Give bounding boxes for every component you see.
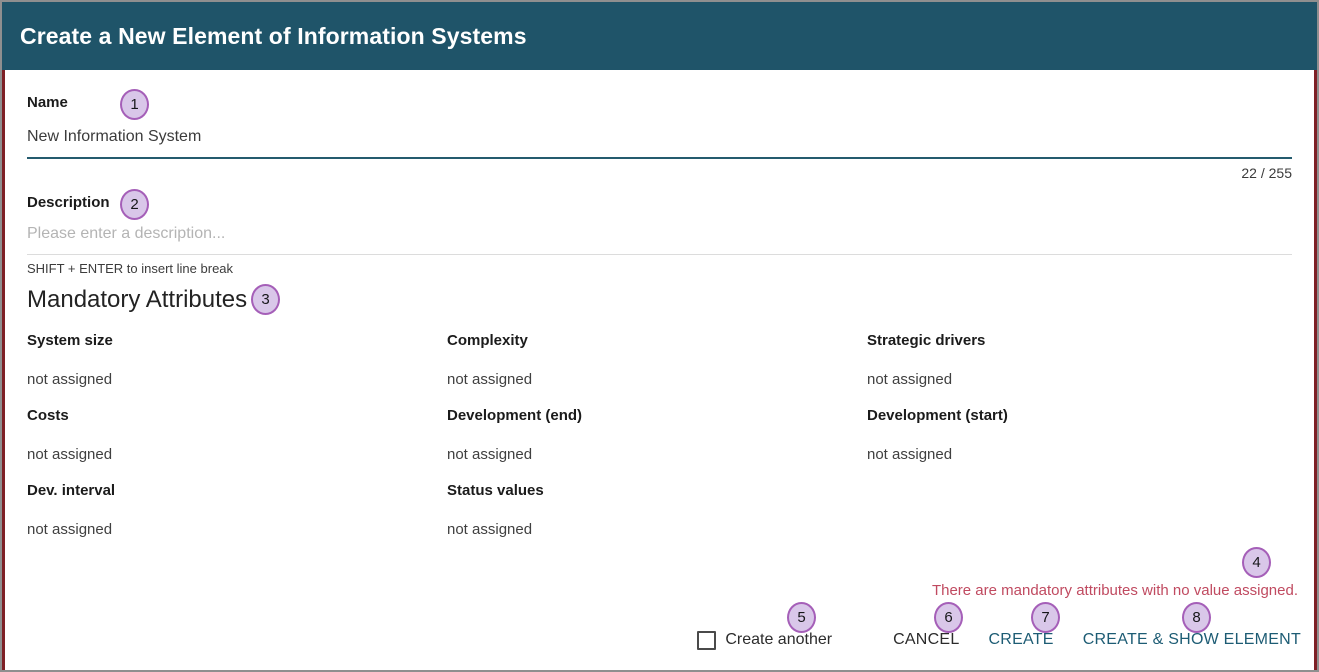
annotation-badge-2: 2	[120, 189, 149, 220]
attribute-name: Complexity	[447, 332, 532, 349]
attribute-name: Development (start)	[867, 407, 1008, 424]
dialog-title: Create a New Element of Information Syst…	[2, 23, 527, 50]
description-field-label-group: Description	[27, 194, 110, 212]
annotation-badge-8: 8	[1182, 602, 1211, 633]
annotation-badge-4: 4	[1242, 547, 1271, 578]
annotation-badge-6: 6	[934, 602, 963, 633]
attribute-item[interactable]: System size not assigned	[27, 332, 113, 388]
create-and-show-element-button[interactable]: CREATE & SHOW ELEMENT	[1083, 631, 1301, 649]
name-field-label-group: Name	[27, 94, 68, 112]
dialog-content: Name 1 New Information System 22 / 255 D…	[0, 70, 1319, 672]
attribute-name: Dev. interval	[27, 482, 115, 499]
attribute-value: not assigned	[447, 446, 582, 463]
attribute-item[interactable]: Development (start) not assigned	[867, 407, 1008, 463]
create-another-checkbox-group[interactable]: Create another	[697, 631, 832, 650]
create-element-dialog: Create a New Element of Information Syst…	[0, 0, 1319, 672]
annotation-badge-1: 1	[120, 89, 149, 120]
attribute-name: Costs	[27, 407, 112, 424]
name-field-label: Name	[27, 94, 68, 111]
attribute-name: Strategic drivers	[867, 332, 985, 349]
attribute-item[interactable]: Development (end) not assigned	[447, 407, 582, 463]
description-input[interactable]: Please enter a description... SHIFT + EN…	[27, 225, 1292, 276]
description-field-label: Description	[27, 194, 110, 211]
annotation-badge-7: 7	[1031, 602, 1060, 633]
attribute-value: not assigned	[867, 371, 985, 388]
attribute-value: not assigned	[447, 371, 532, 388]
description-input-hint: SHIFT + ENTER to insert line break	[27, 255, 1292, 276]
cancel-button[interactable]: CANCEL	[893, 631, 959, 649]
attribute-name: Status values	[447, 482, 544, 499]
dialog-action-bar: Create another CANCEL CREATE CREATE & SH…	[697, 626, 1301, 654]
attribute-item[interactable]: Complexity not assigned	[447, 332, 532, 388]
attribute-name: Development (end)	[447, 407, 582, 424]
attribute-value: not assigned	[27, 521, 115, 538]
mandatory-attributes-heading: Mandatory Attributes	[27, 286, 247, 314]
attribute-value: not assigned	[27, 446, 112, 463]
create-another-checkbox[interactable]	[697, 631, 716, 650]
attribute-item[interactable]: Dev. interval not assigned	[27, 482, 115, 538]
attribute-name: System size	[27, 332, 113, 349]
attribute-row: Costs not assigned Development (end) not…	[0, 407, 1319, 482]
dialog-titlebar: Create a New Element of Information Syst…	[2, 2, 1317, 70]
name-input-underline	[27, 157, 1292, 159]
name-input[interactable]: New Information System	[27, 128, 1292, 159]
validation-error-message: There are mandatory attributes with no v…	[932, 582, 1298, 599]
attribute-item[interactable]: Costs not assigned	[27, 407, 112, 463]
attribute-value: not assigned	[867, 446, 1008, 463]
attribute-value: not assigned	[447, 521, 544, 538]
create-button[interactable]: CREATE	[988, 631, 1053, 649]
attribute-row: System size not assigned Complexity not …	[0, 332, 1319, 407]
description-input-placeholder: Please enter a description...	[27, 225, 1292, 254]
attribute-item[interactable]: Status values not assigned	[447, 482, 544, 538]
name-character-counter: 22 / 255	[27, 165, 1292, 181]
mandatory-attributes-grid: System size not assigned Complexity not …	[0, 332, 1319, 557]
annotation-badge-3: 3	[251, 284, 280, 315]
attribute-item[interactable]: Strategic drivers not assigned	[867, 332, 985, 388]
create-another-label: Create another	[725, 631, 832, 649]
name-input-value: New Information System	[27, 128, 1292, 157]
attribute-row: Dev. interval not assigned Status values…	[0, 482, 1319, 557]
attribute-value: not assigned	[27, 371, 113, 388]
annotation-badge-5: 5	[787, 602, 816, 633]
